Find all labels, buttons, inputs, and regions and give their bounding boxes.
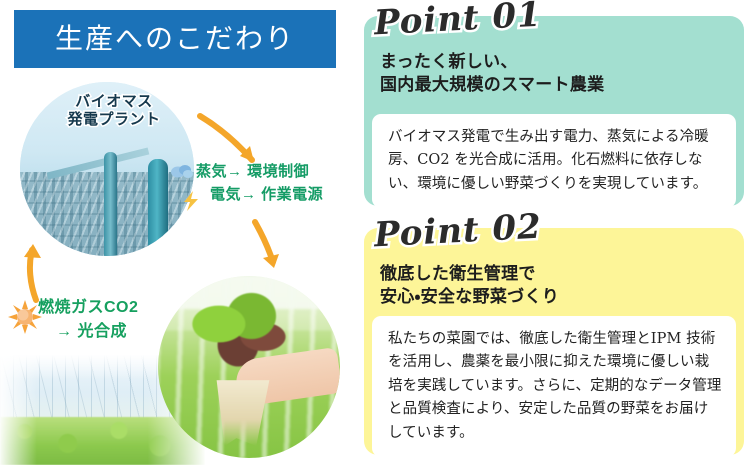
point-02-heading-line1: 徹底した衛生管理で	[380, 262, 730, 285]
biomass-plant-label: バイオマス 発電プラント	[46, 93, 182, 130]
flow-item-steam: 蒸気→ 環境制御	[196, 160, 323, 183]
point-01-heading-line1: まったく新しい、	[380, 50, 730, 73]
harvested-vegetable-photo	[158, 276, 340, 458]
point-01-heading-line2: 国内最大規模のスマート農業	[380, 73, 730, 96]
flow-item-electricity-label: 電気→ 作業電源	[210, 183, 323, 206]
point-02-heading: 徹底した衛生管理で 安心・安全な野菜づくり	[380, 262, 730, 309]
co2-label-line1: 燃焼ガスCO2	[38, 296, 138, 320]
point-01-script-label: Point 01	[373, 0, 542, 40]
flow-item-electricity: 電気→ 作業電源	[210, 183, 323, 206]
point-02-body: 私たちの菜園では、徹底した衛生管理とIPM 技術を活用し、農薬を最小限に抑えた環…	[372, 316, 736, 457]
diagram-column: 生産へのこだわり バイオマス 発電プラント	[0, 0, 355, 465]
point-02-script-label: Point 02	[373, 210, 542, 253]
co2-photosynthesis-label: 燃焼ガスCO2 → 光合成	[38, 296, 138, 344]
steam-cloud-icon	[170, 163, 194, 180]
point-01-heading: まったく新しい、 国内最大規模のスマート農業	[380, 50, 730, 97]
plant-photo-chimney	[148, 159, 168, 256]
arrow-flows-to-vegetables	[245, 218, 293, 280]
sun-icon	[8, 300, 42, 334]
point-02-heading-line2: 安心・安全な野菜づくり	[380, 285, 730, 308]
points-column: Point 01 まったく新しい、 国内最大規模のスマート農業 バイオマス発電で…	[358, 0, 750, 465]
flow-item-steam-label: 蒸気→ 環境制御	[196, 160, 309, 183]
arrow-co2-up-to-plant	[14, 240, 60, 304]
plant-photo-small-stack	[104, 152, 117, 256]
page-title: 生産へのこだわり	[55, 25, 295, 53]
infographic-root: 生産へのこだわり バイオマス 発電プラント	[0, 0, 750, 465]
point-01-body: バイオマス発電で生み出す電力、蒸気による冷暖房、CO2 を光合成に活用。化石燃料…	[372, 114, 736, 208]
co2-label-line2: → 光合成	[56, 320, 138, 344]
biomass-plant-label-line1: バイオマス	[46, 93, 182, 111]
page-title-banner: 生産へのこだわり	[14, 10, 336, 68]
energy-flow-labels: 蒸気→ 環境制御 電気→ 作業電源	[196, 160, 323, 207]
biomass-plant-label-line2: 発電プラント	[46, 111, 182, 129]
